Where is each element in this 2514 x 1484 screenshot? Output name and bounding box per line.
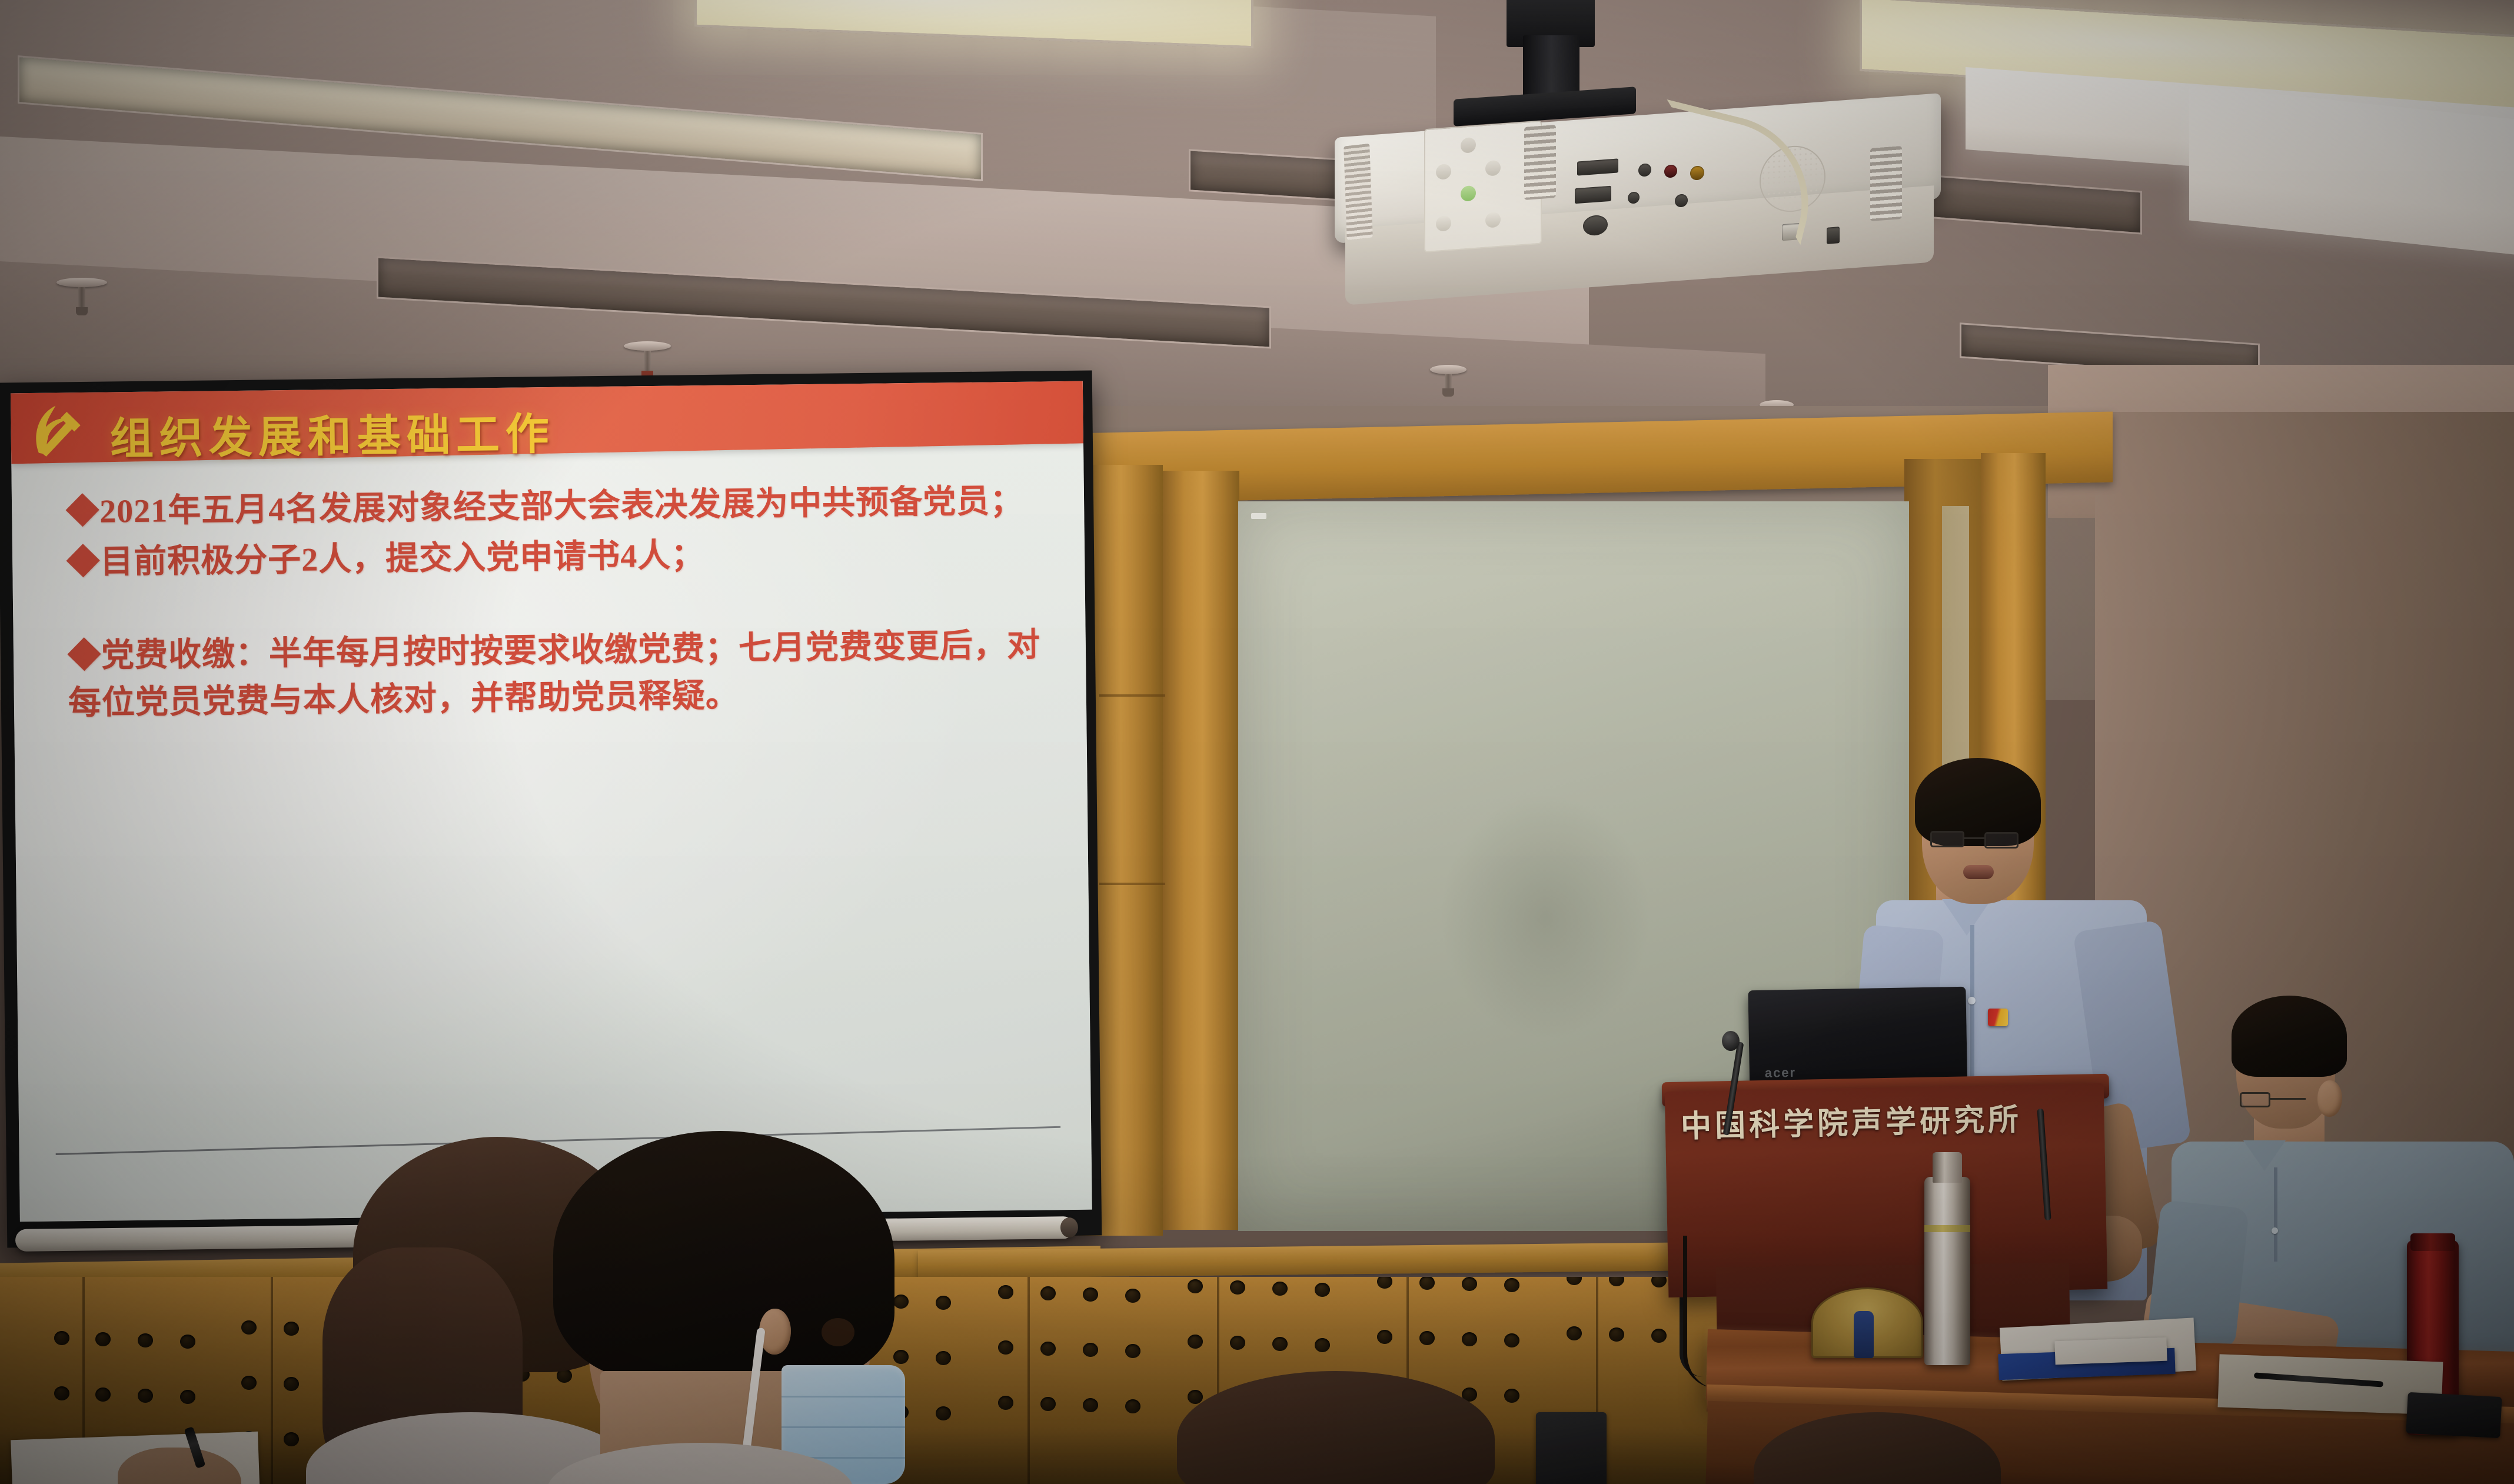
presentation-slide: 组织发展和基础工作 ◆2021年五月4名发展对象经支部大会表决发展为中共预备党员…	[11, 381, 1092, 1222]
phone-on-table	[2406, 1392, 2502, 1438]
projector-vent-grille-right	[1870, 146, 1902, 221]
meeting-room-scene: 组织发展和基础工作 ◆2021年五月4名发展对象经支部大会表决发展为中共预备党员…	[0, 0, 2514, 1484]
silver-thermos-bottle	[1924, 1177, 1970, 1365]
paper-name-card	[2054, 1337, 2167, 1365]
projector-side-vent-icon	[1344, 144, 1373, 240]
silver-thermos-ring	[1924, 1225, 1970, 1232]
wood-panel-seam-left	[1099, 694, 1165, 697]
slide-bullet-3: ◆党费收缴：半年每月按时按要求收缴党费；七月党费变更后，对每位党员党费与本人核对…	[68, 622, 1063, 727]
wood-column-center	[1163, 471, 1239, 1230]
masked-attendee-hair	[553, 1131, 894, 1384]
panel-seam	[1027, 1277, 1030, 1484]
hammer-and-sickle-emblem-icon	[28, 397, 91, 461]
presenter-collar	[1942, 899, 1991, 936]
sprinkler-head-right-a	[1430, 365, 1466, 397]
plaque-tassel	[1854, 1311, 1874, 1358]
silver-thermos-cap	[1933, 1152, 1962, 1183]
red-thermos-cap	[2410, 1233, 2455, 1251]
wall-device-panel	[1536, 1412, 1607, 1484]
slide-bullet-2: ◆目前积极分子2人，提交入党申请书4人；	[66, 528, 1062, 587]
slide-body: ◆2021年五月4名发展对象经支部大会表决发展为中共预备党员； ◆目前积极分子2…	[66, 478, 1063, 730]
wood-panel-seam-left-2	[1099, 883, 1165, 885]
screen-roller-end-cap	[1060, 1217, 1078, 1237]
masked-attendee-cheek-shadow	[822, 1318, 854, 1346]
projector-hdmi-port	[1575, 186, 1611, 204]
projection-screen: 组织发展和基础工作 ◆2021年五月4名发展对象经支部大会表决发展为中共预备党员…	[0, 370, 1102, 1247]
seated-attendee-collar	[2243, 1140, 2286, 1171]
slide-title: 组织发展和基础工作	[109, 399, 555, 467]
presenter-glasses-icon	[1930, 831, 2018, 849]
laptop-brand-logo: acer	[1765, 1065, 1797, 1081]
seated-attendee-shirt-button	[2272, 1227, 2278, 1234]
presenter-shirt-button	[1968, 997, 1976, 1004]
slide-bullet-1: ◆2021年五月4名发展对象经支部大会表决发展为中共预备党员；	[66, 478, 1061, 536]
whiteboard-shadow-blob	[1439, 793, 1651, 1040]
projector-vga-port	[1577, 158, 1618, 175]
seated-attendee-hair	[2232, 996, 2347, 1077]
projection-screen-surface: 组织发展和基础工作 ◆2021年五月4名发展对象经支部大会表决发展为中共预备党员…	[11, 381, 1092, 1222]
presenter-mouth	[1963, 865, 1994, 879]
projector-vent-grille-left	[1524, 125, 1556, 200]
seated-attendee-polo-placket	[2274, 1167, 2277, 1262]
sprinkler-head-center	[624, 341, 671, 379]
podium-microphone-head-icon	[1722, 1031, 1740, 1051]
presenter-party-pin-icon	[1988, 1009, 2008, 1026]
seated-attendee-ear	[2317, 1080, 2342, 1117]
whiteboard-clip-icon	[1251, 513, 1266, 519]
sprinkler-head-left	[56, 278, 107, 315]
projector-usb-port	[1827, 227, 1840, 244]
panel-seam	[271, 1277, 273, 1484]
